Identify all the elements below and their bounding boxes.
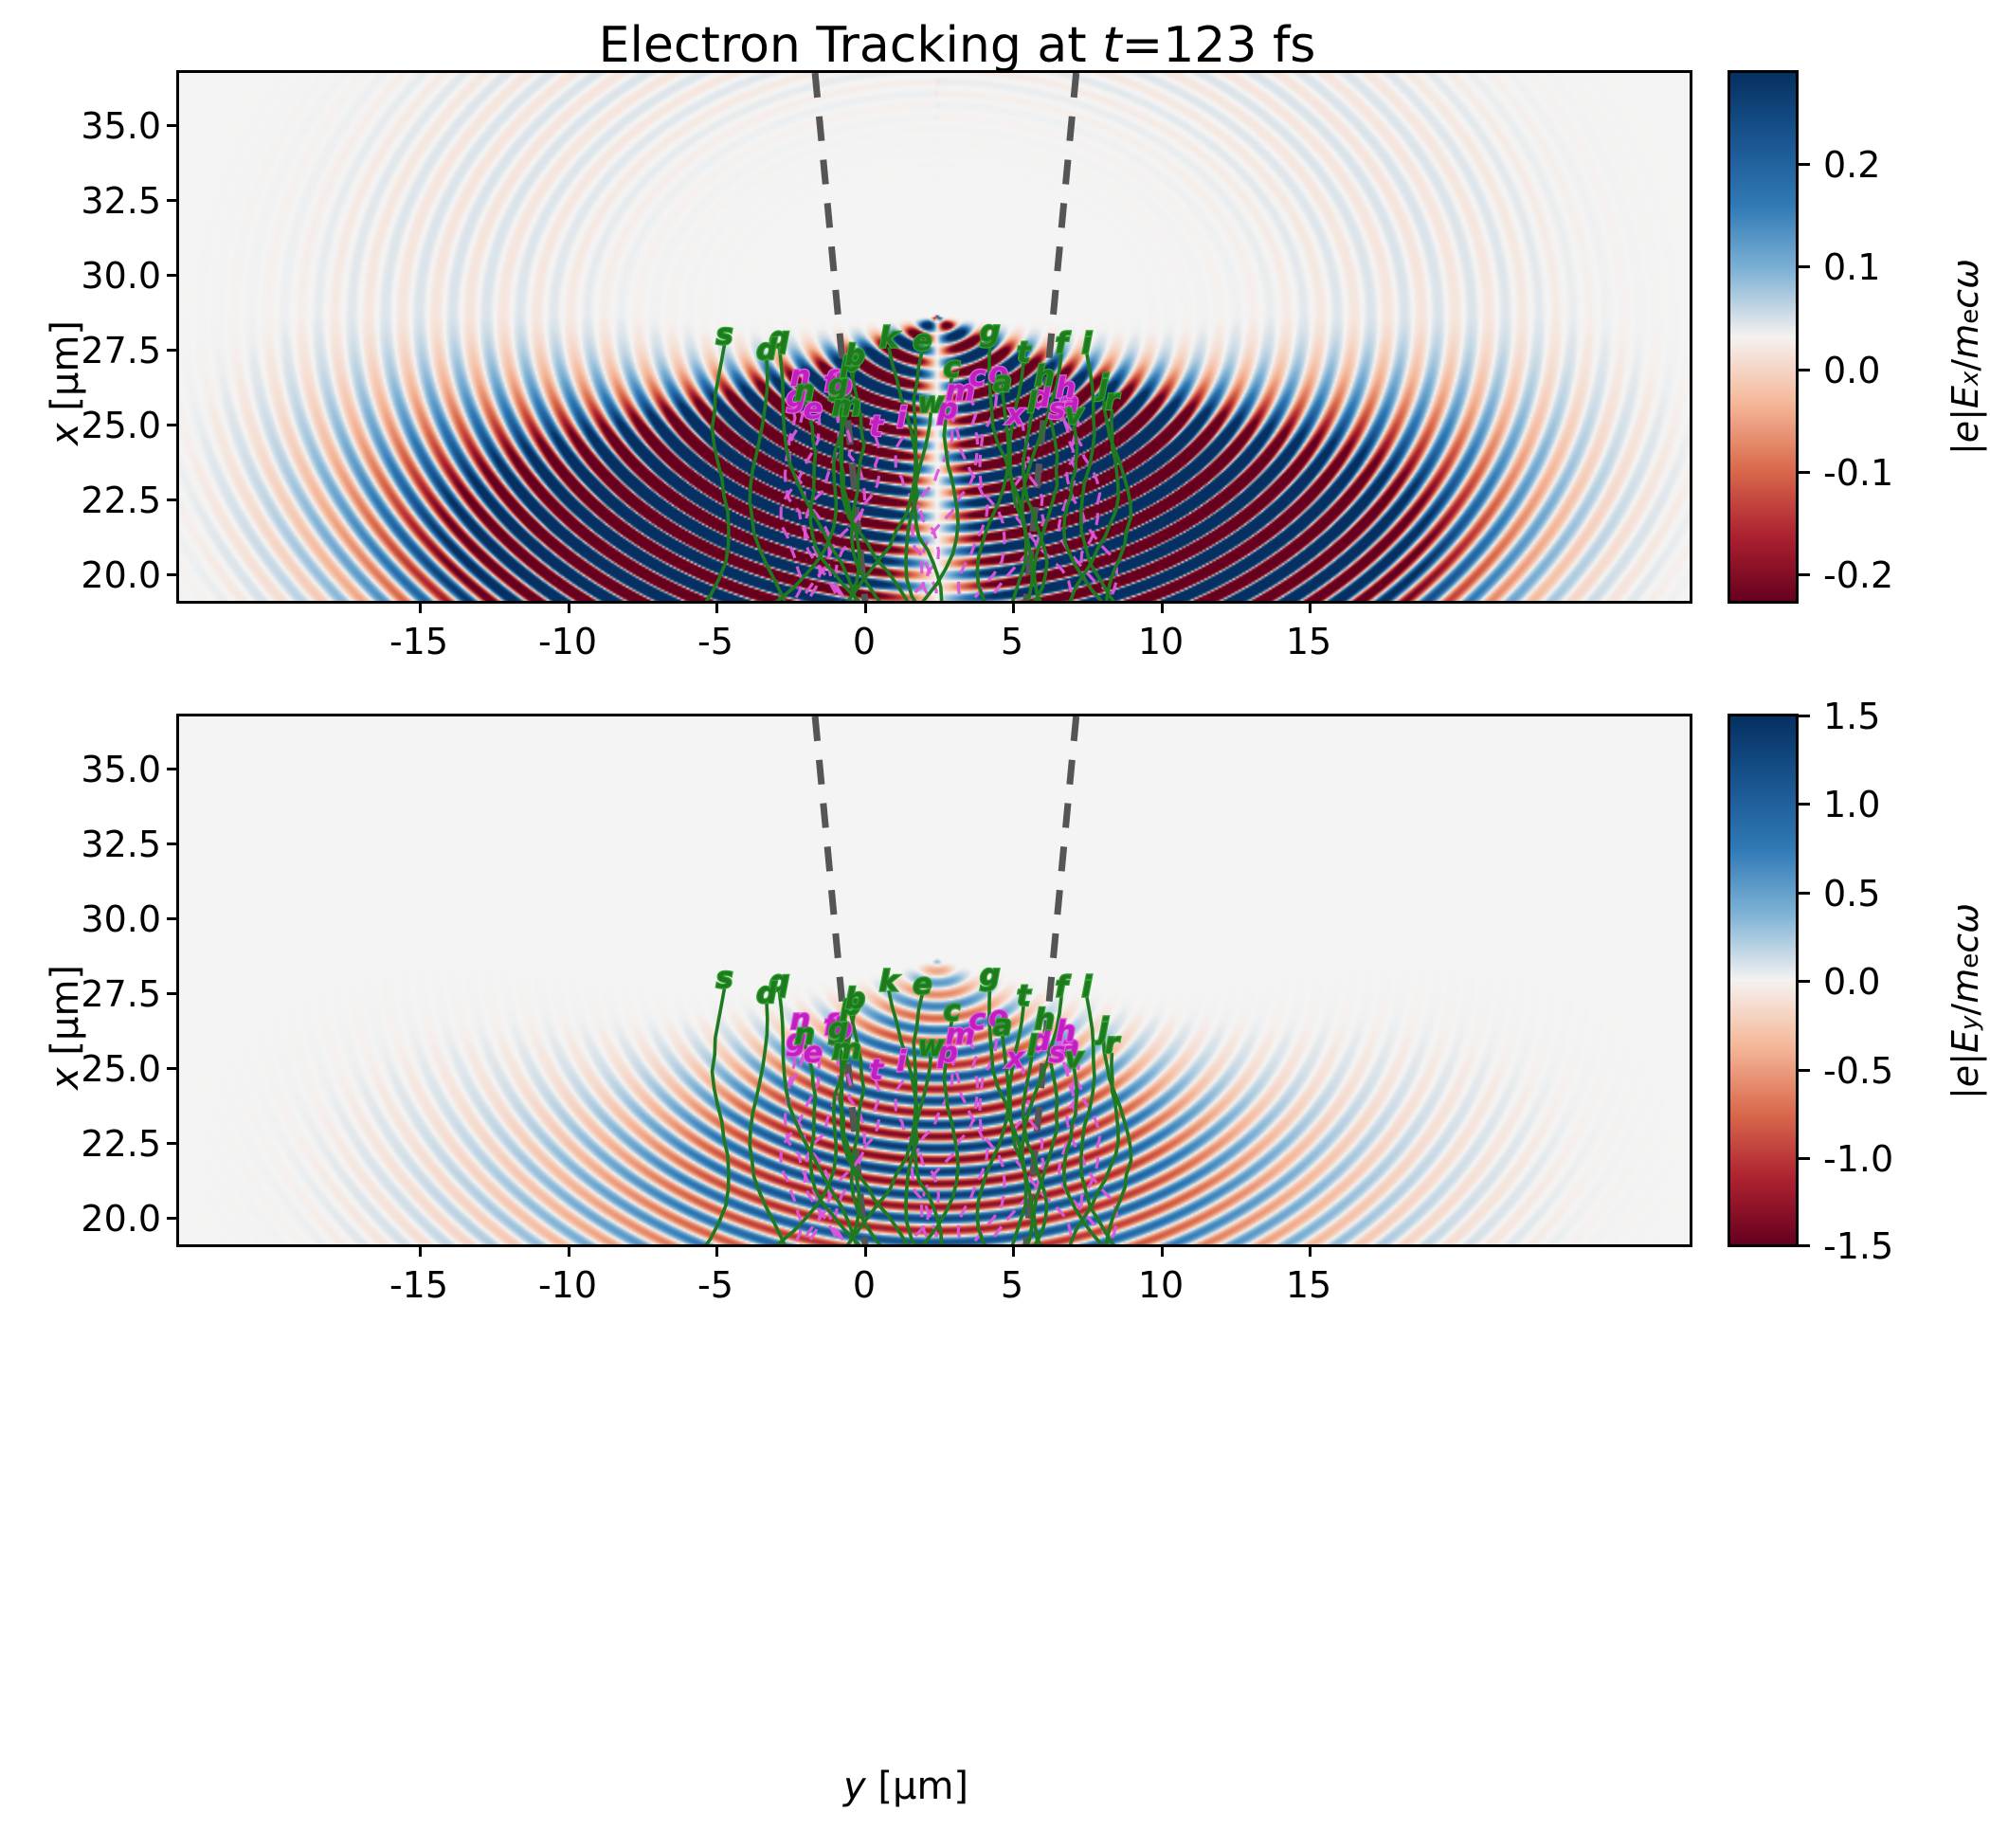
cbtick-label: -0.2: [1823, 554, 1893, 596]
ytick-label: 32.5: [57, 824, 161, 865]
field-heatmap-ey: nfbgetmopcdashixsqdpkegtfihjcbgnarmlwv: [179, 716, 1692, 1247]
title-value: 123: [1163, 17, 1257, 74]
xtick-label: 0: [817, 1264, 912, 1306]
xtick-label: 15: [1261, 621, 1356, 662]
ytick-label: 22.5: [57, 480, 161, 521]
particle-label: l: [1027, 387, 1038, 420]
cbtick-mark: [1799, 163, 1810, 166]
particle-label: r: [1105, 384, 1121, 417]
particle-label: m: [832, 1033, 861, 1066]
field-heatmap-ex: nfbgetmopcdashixsqdpkegtfihjcbgnarmlwv: [179, 73, 1692, 604]
xtick-label: 0: [817, 621, 912, 662]
cbtick-label: 1.0: [1823, 784, 1880, 825]
particle-label: s: [716, 318, 733, 352]
particle-label: c: [944, 352, 961, 385]
particle-label: c: [968, 360, 986, 393]
particle-label: k: [879, 965, 900, 998]
xtick-label: 5: [965, 621, 1059, 662]
field-map-bottom: nfbgetmopcdashixsqdpkegtfihjcbgnarmlwv: [176, 714, 1692, 1247]
colorbar-top: [1728, 70, 1799, 604]
ytick-label: 25.0: [57, 1048, 161, 1090]
particle-label: w: [917, 1030, 944, 1063]
particle-label: g: [980, 316, 1000, 349]
title-equals: =: [1122, 17, 1164, 74]
particle-label: h: [1035, 360, 1055, 393]
cbtick-label: -0.1: [1823, 452, 1893, 494]
particle-label: v: [1065, 399, 1085, 432]
cbtick-label: 0.0: [1823, 350, 1880, 391]
particle-label: i: [1082, 971, 1093, 1005]
cbtick-mark: [1799, 369, 1810, 371]
cbtick-label: -0.5: [1823, 1050, 1893, 1092]
cbtick-label: 1.5: [1823, 696, 1880, 737]
title-unit: fs: [1257, 17, 1315, 74]
xtick-label: -10: [520, 1264, 615, 1306]
field-image: [179, 716, 1692, 1247]
ytick-label: 30.0: [57, 898, 161, 940]
particle-label: a: [993, 1009, 1012, 1042]
particle-label: t: [869, 1054, 884, 1087]
particle-label: c: [968, 1004, 986, 1037]
colorbar-label-ey: |e|Ey/mecω: [1945, 903, 1986, 1099]
particle-label: d: [756, 334, 777, 367]
particle-label: t: [869, 410, 884, 444]
ytick-label: 20.0: [57, 1198, 161, 1240]
ytick-label: 35.0: [57, 105, 161, 147]
cbtick-mark: [1799, 980, 1810, 983]
particle-label: x: [1004, 399, 1026, 432]
particle-label: l: [1027, 1030, 1038, 1063]
cbtick-label: 0.0: [1823, 961, 1880, 1003]
particle-label: i: [896, 402, 907, 435]
xtick-label: -15: [371, 1264, 466, 1306]
title-variable: t: [1102, 17, 1121, 74]
particle-label: s: [716, 962, 733, 995]
ytick-label: 20.0: [57, 554, 161, 596]
particle-label: t: [1017, 980, 1032, 1013]
cbtick-mark: [1799, 1244, 1810, 1247]
cbtick-label: -1.5: [1823, 1225, 1893, 1267]
particle-label: e: [913, 968, 932, 1001]
particle-label: c: [944, 995, 961, 1028]
particle-label: x: [1004, 1042, 1026, 1076]
ytick-label: 32.5: [57, 180, 161, 222]
particle-label: b: [845, 983, 865, 1016]
xtick-label: -10: [520, 621, 615, 662]
ytick-label: 22.5: [57, 1123, 161, 1165]
particle-label: a: [993, 366, 1012, 399]
particle-label: h: [1035, 1004, 1055, 1037]
cbtick-label: 0.5: [1823, 873, 1880, 915]
xtick-label: 15: [1261, 1264, 1356, 1306]
cbtick-mark: [1799, 1157, 1810, 1160]
particle-label: d: [756, 977, 777, 1010]
particle-label: w: [917, 387, 944, 420]
cbtick-mark: [1799, 573, 1810, 576]
colorbar-bottom: [1728, 714, 1799, 1247]
particle-label: n: [794, 375, 814, 408]
field-image: [179, 73, 1692, 604]
ytick-label: 35.0: [57, 749, 161, 790]
ytick-label: 30.0: [57, 255, 161, 297]
xtick-label: -5: [668, 1264, 763, 1306]
xtick-label: 5: [965, 1264, 1059, 1306]
particle-label: r: [1105, 1027, 1121, 1060]
cbtick-mark: [1799, 471, 1810, 474]
cbtick-mark: [1799, 803, 1810, 806]
axis-label-x: y [μm]: [843, 1765, 968, 1808]
cbtick-label: 0.1: [1823, 246, 1880, 288]
ytick-label: 25.0: [57, 405, 161, 446]
particle-label: i: [1082, 328, 1093, 361]
cbtick-mark: [1799, 715, 1810, 717]
particle-label: v: [1065, 1042, 1085, 1076]
cbtick-label: 0.2: [1823, 144, 1880, 186]
xtick-label: -5: [668, 621, 763, 662]
ytick-label: 27.5: [57, 973, 161, 1015]
page-title: Electron Tracking at t=123 fs: [237, 17, 1677, 74]
colorbar-label-ex: |e|Ex/mecω: [1945, 259, 1986, 455]
xtick-label: 10: [1113, 1264, 1208, 1306]
cbtick-label: -1.0: [1823, 1138, 1893, 1180]
xtick-label: -15: [371, 621, 466, 662]
particle-label: g: [980, 959, 1000, 992]
particle-label: e: [913, 324, 932, 357]
particle-label: i: [896, 1045, 907, 1078]
xtick-label: 10: [1113, 621, 1208, 662]
particle-label: n: [794, 1019, 814, 1052]
title-prefix: Electron Tracking at: [599, 17, 1103, 74]
particle-label: b: [845, 339, 865, 372]
cbtick-mark: [1799, 892, 1810, 895]
field-map-top: nfbgetmopcdashixsqdpkegtfihjcbgnarmlwv: [176, 70, 1692, 604]
cbtick-mark: [1799, 265, 1810, 268]
particle-label: t: [1017, 336, 1032, 370]
cbtick-mark: [1799, 1069, 1810, 1072]
ytick-label: 27.5: [57, 330, 161, 371]
particle-label: k: [879, 321, 900, 354]
particle-label: m: [832, 390, 861, 423]
